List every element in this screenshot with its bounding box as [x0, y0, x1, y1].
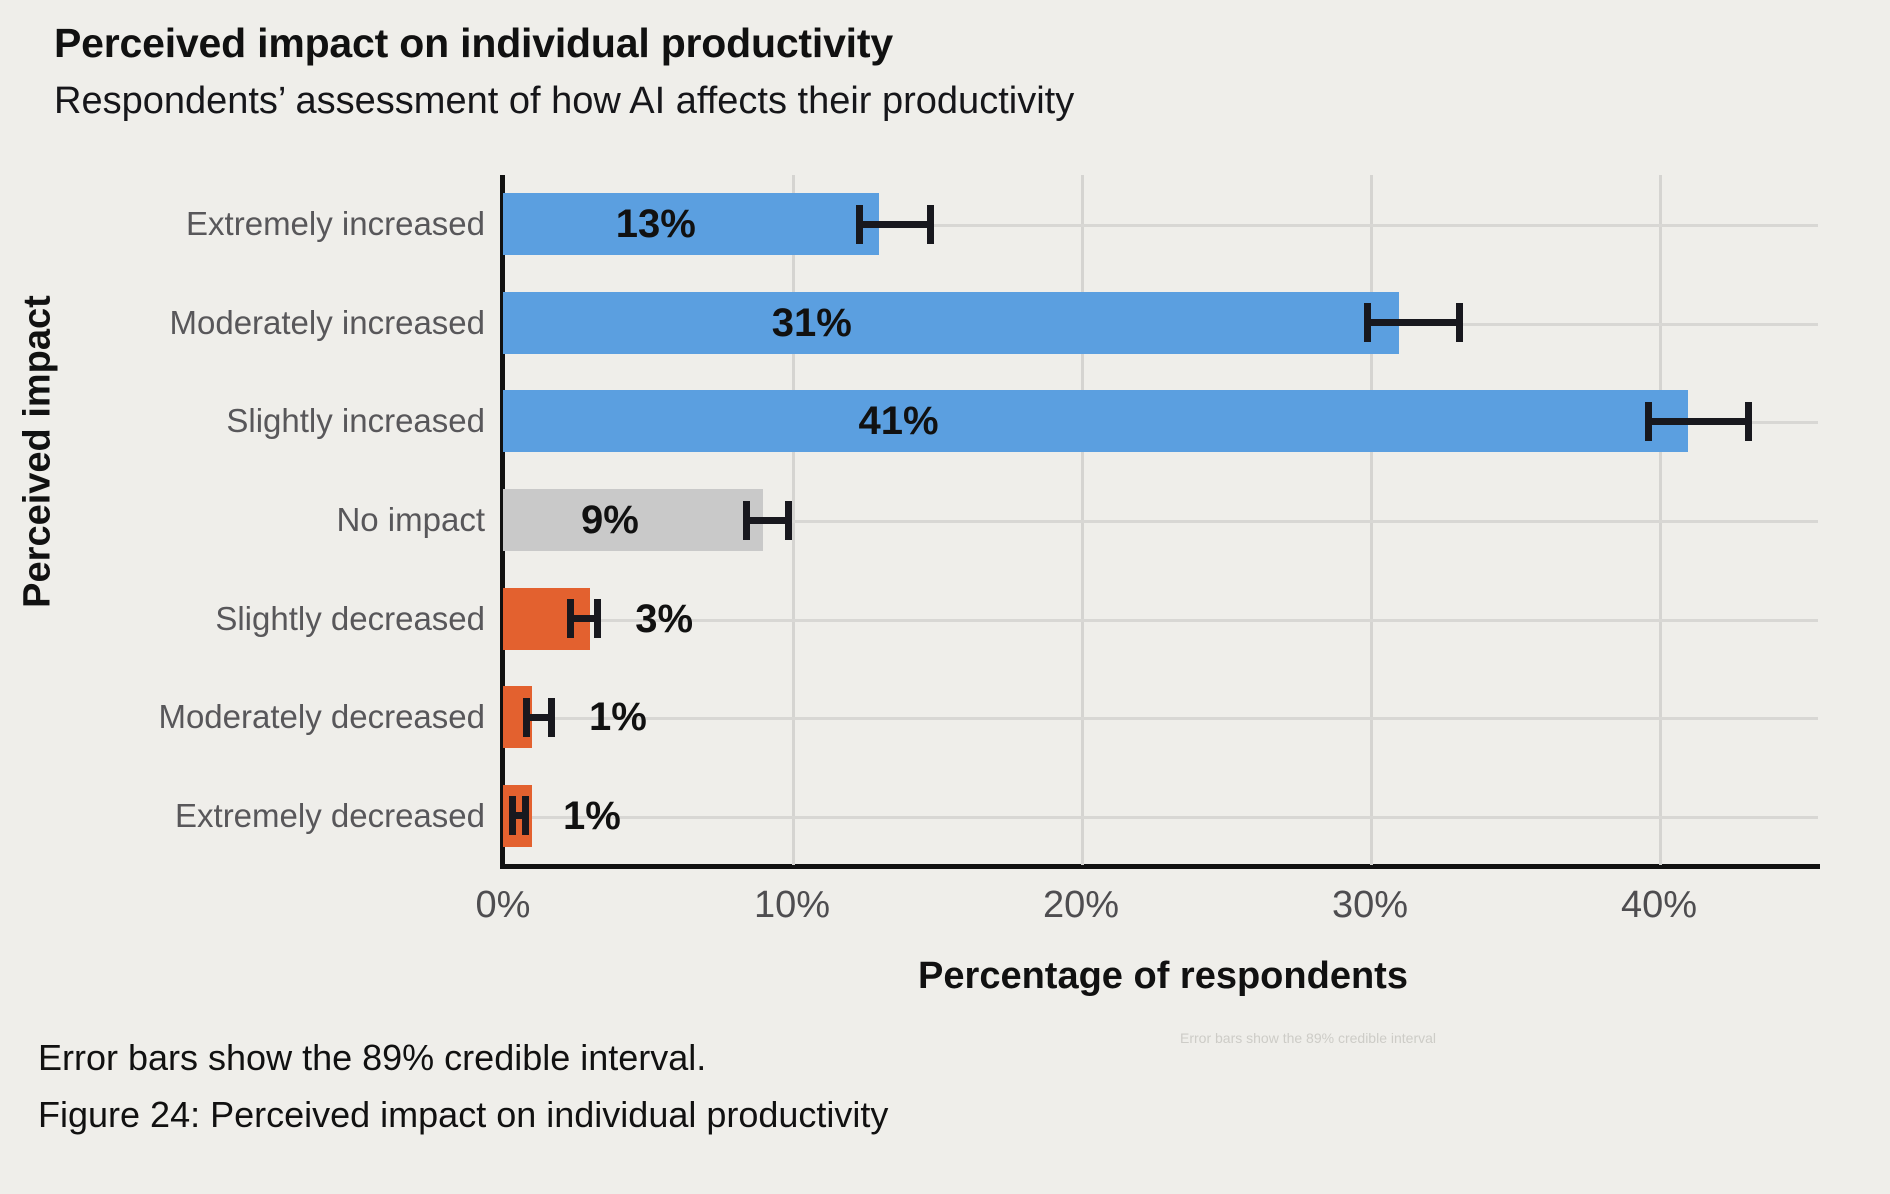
error-bar-cap-low	[856, 205, 863, 244]
error-bar-cap-low	[509, 796, 516, 835]
bar-value-label: 1%	[589, 686, 647, 748]
x-axis-tick-label: 0%	[476, 884, 531, 927]
gridline-horizontal	[503, 717, 1818, 720]
y-axis-category-labels: Extremely increasedModerately increasedS…	[20, 175, 485, 865]
y-axis-tick-label: Moderately decreased	[25, 686, 485, 748]
y-axis-tick-label: Moderately increased	[25, 292, 485, 354]
y-axis-tick-label: Slightly decreased	[25, 588, 485, 650]
error-bar-cap-low	[1364, 303, 1371, 342]
x-axis-tick-label: 30%	[1332, 884, 1408, 927]
bar-value-label: 13%	[616, 193, 696, 255]
page-title: Perceived impact on individual productiv…	[54, 20, 1074, 67]
error-bar-cap-low	[743, 501, 750, 540]
error-bar-cap-high	[522, 796, 529, 835]
error-bar-line	[1645, 418, 1752, 425]
faint-cutoff-text: Error bars show the 89% credible interva…	[1180, 1030, 1880, 1050]
bar-value-label: 31%	[772, 292, 852, 354]
bar[interactable]	[503, 292, 1399, 354]
x-axis-title: Percentage of respondents	[503, 955, 1823, 998]
bar-value-label: 41%	[858, 390, 938, 452]
error-bar-cap-high	[1456, 303, 1463, 342]
chart-header: Perceived impact on individual productiv…	[54, 20, 1074, 125]
error-bar-cap-low	[567, 599, 574, 638]
bar-value-label: 1%	[563, 785, 621, 847]
gridline-horizontal	[503, 619, 1818, 622]
x-axis-tick-label: 10%	[754, 884, 830, 927]
y-axis-tick-label: Extremely increased	[25, 193, 485, 255]
error-bar-cap-high	[548, 698, 555, 737]
y-axis-title: Perceived impact	[17, 222, 60, 682]
bar[interactable]	[503, 390, 1688, 452]
error-bar-line	[1364, 319, 1462, 326]
error-bar-cap-high	[1745, 402, 1752, 441]
error-bar-line	[856, 221, 934, 228]
y-axis-tick-label: Extremely decreased	[25, 785, 485, 847]
chart-footer: Error bars show the 89% credible interva…	[38, 1035, 888, 1149]
x-axis-tick-label: 20%	[1043, 884, 1119, 927]
figure-caption: Figure 24: Perceived impact on individua…	[38, 1092, 888, 1139]
error-bar-cap-high	[785, 501, 792, 540]
error-bar-cap-low	[1645, 402, 1652, 441]
error-bar-cap-high	[594, 599, 601, 638]
error-bar-note: Error bars show the 89% credible interva…	[38, 1035, 888, 1082]
error-bar-cap-low	[523, 698, 530, 737]
plot-area: 13%31%41%9%3%1%1%	[503, 175, 1818, 865]
y-axis-tick-label: Slightly increased	[25, 390, 485, 452]
error-bar-cap-high	[927, 205, 934, 244]
bar-value-label: 3%	[635, 588, 693, 650]
y-axis-tick-label: No impact	[25, 489, 485, 551]
chart-subtitle: Respondents’ assessment of how AI affect…	[54, 79, 1074, 125]
gridline-horizontal	[503, 816, 1818, 819]
bar-value-label: 9%	[581, 489, 639, 551]
x-axis-tick-label: 40%	[1621, 884, 1697, 927]
